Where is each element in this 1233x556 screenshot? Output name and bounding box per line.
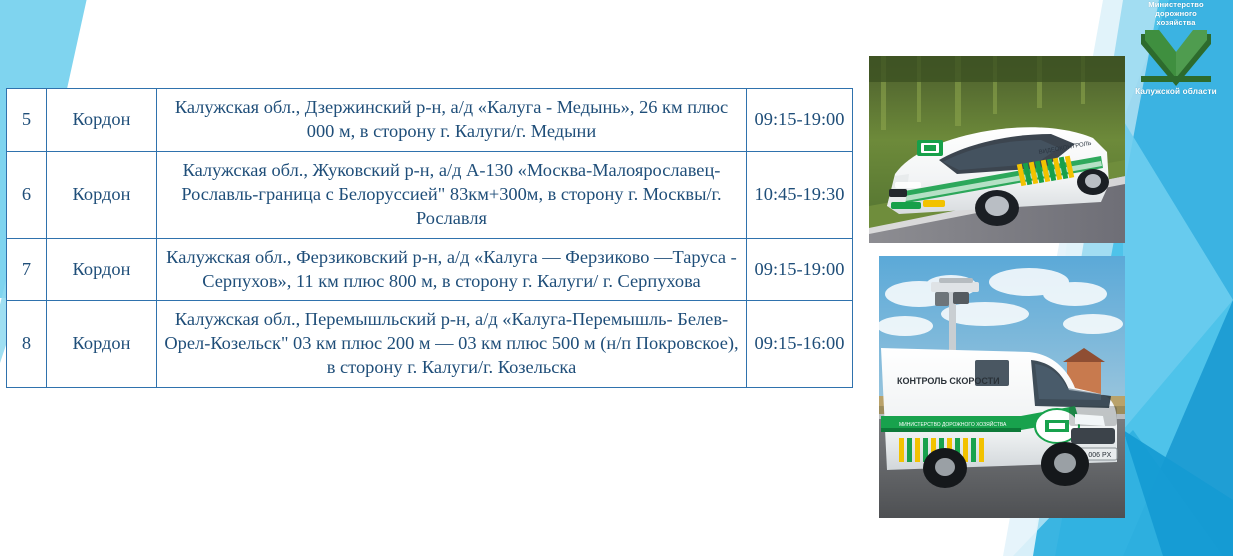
table-header-ghost-text: Адрес размещения Время (6, 74, 852, 75)
row-address: Калужская обл., Перемышльский р-н, а/д «… (157, 301, 747, 388)
slide-canvas: Министерство дорожного хозяйства Калужск… (0, 0, 1233, 556)
ministry-logo: Министерство дорожного хозяйства Калужск… (1123, 0, 1229, 96)
svg-text:МИНИСТЕРСТВО ДОРОЖНОГО ХОЗЯЙСТ: МИНИСТЕРСТВО ДОРОЖНОГО ХОЗЯЙСТВА (899, 420, 1007, 428)
row-time: 09:15-16:00 (747, 301, 853, 388)
table-row[interactable]: 8 Кордон Калужская обл., Перемышльский р… (7, 301, 853, 388)
table-row[interactable]: 6 Кордон Калужская обл., Жуковский р-н, … (7, 151, 853, 238)
row-type: Кордон (47, 301, 157, 388)
row-number: 5 (7, 89, 47, 152)
logo-line-3: хозяйства (1123, 18, 1229, 27)
logo-line-1: Министерство (1123, 0, 1229, 9)
row-address: Калужская обл., Дзержинский р-н, а/д «Ка… (157, 89, 747, 152)
cordon-table: 5 Кордон Калужская обл., Дзержинский р-н… (6, 88, 853, 388)
row-type: Кордон (47, 238, 157, 301)
row-number: 8 (7, 301, 47, 388)
logo-line-2: дорожного (1123, 9, 1229, 18)
logo-region-label: Калужской области (1123, 87, 1229, 96)
row-time: 09:15-19:00 (747, 238, 853, 301)
row-address: Калужская обл., Жуковский р-н, а/д А-130… (157, 151, 747, 238)
cordon-table-wrap: 5 Кордон Калужская обл., Дзержинский р-н… (6, 88, 854, 388)
table-header-cropped: Адрес размещения Время (6, 74, 852, 88)
ministry-m-chevron-icon (1139, 28, 1213, 86)
row-number: 7 (7, 238, 47, 301)
row-type: Кордон (47, 151, 157, 238)
cordon-table-body: 5 Кордон Калужская обл., Дзержинский р-н… (7, 89, 853, 388)
row-type: Кордон (47, 89, 157, 152)
row-address: Калужская обл., Ферзиковский р-н, а/д «К… (157, 238, 747, 301)
table-row[interactable]: 7 Кордон Калужская обл., Ферзиковский р-… (7, 238, 853, 301)
table-row[interactable]: 5 Кордон Калужская обл., Дзержинский р-н… (7, 89, 853, 152)
row-time: 10:45-19:30 (747, 151, 853, 238)
row-time: 09:15-19:00 (747, 89, 853, 152)
patrol-sedan-photo: ВИДЕОКОНТРОЛЬ Белый седан дорожной служб… (869, 56, 1125, 243)
speed-control-van-photo: O 006 PX КОНТРОЛЬ СКОРОСТИ МИНИСТЕРСТВО … (879, 256, 1125, 518)
row-number: 6 (7, 151, 47, 238)
svg-text:КОНТРОЛЬ СКОРОСТИ: КОНТРОЛЬ СКОРОСТИ (897, 376, 1000, 386)
